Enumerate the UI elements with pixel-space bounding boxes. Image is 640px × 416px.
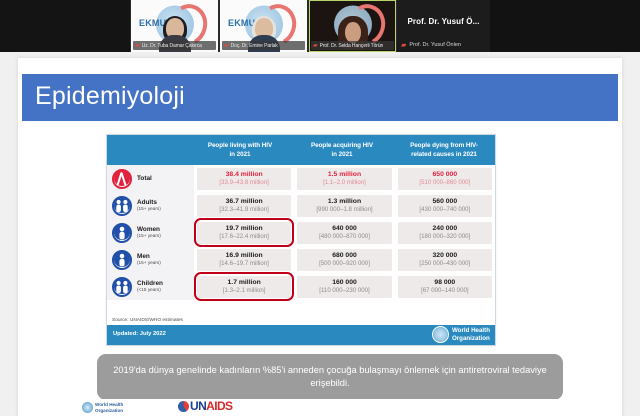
who-hiv-statistics-table: People living with HIV in 2021 People ac…: [106, 134, 496, 346]
cell-value: 160 000: [332, 279, 357, 287]
microphone-muted-icon: ▰: [135, 43, 140, 49]
row-name: Total: [137, 175, 152, 182]
table-cell: 16.9 million[14.6–19.7 million]: [194, 246, 294, 273]
who-logo-line2: Organization: [452, 335, 490, 342]
microphone-muted-icon: ▰: [401, 41, 406, 49]
active-speaker-display-name: Prof. Dr. Yusuf Ö...: [397, 17, 490, 26]
row-name: Men: [137, 253, 161, 260]
slide-caption-text: 2019'da dünya genelinde kadınların %85'i…: [111, 364, 549, 391]
row-label-text: Total: [137, 175, 152, 182]
slide-title: Epidemiyoloji: [35, 82, 185, 111]
row-label-text: Women(15+ years): [137, 226, 161, 238]
table-row: Total38.4 million[33.9–43.8 million]1.5 …: [107, 165, 495, 192]
table-cell-content: 240 000[180 000–320 000]: [398, 222, 492, 244]
video-tile-participant-3[interactable]: ▰ Prof. Dr. Selda Hançerli Törün: [308, 0, 397, 52]
video-strip-left-filler: [0, 0, 130, 52]
cell-value: 38.4 million: [226, 171, 263, 179]
row-label-cell: Women(15+ years): [107, 219, 194, 246]
cell-range: [67 000–140 000]: [421, 287, 468, 294]
cell-range: [250 000–430 000]: [419, 260, 470, 267]
table-cell: 1.5 million[1.1–2.0 million]: [294, 165, 394, 192]
table-cell-content: 38.4 million[33.9–43.8 million]: [197, 168, 291, 190]
who-logo: World Health Organization: [432, 326, 490, 343]
row-label-cell: Adults(15+ years): [107, 192, 194, 219]
slide-footer-logos: World Health Organization UNAIDS: [18, 399, 622, 416]
row-name: Women: [137, 226, 161, 233]
row-age-group: (15+ years): [137, 260, 161, 265]
row-label-cell: Children(<15 years): [107, 273, 194, 300]
cell-value: 1.7 million: [228, 279, 261, 287]
row-age-group: (15+ years): [137, 206, 161, 211]
cell-value: 650 000: [433, 171, 458, 179]
table-cell-content: 650 000[510 000–860 000]: [398, 168, 492, 190]
table-cell-content: 680 000[500 000–920 000]: [297, 249, 391, 271]
table-cell-content: 16.9 million[14.6–19.7 million]: [197, 249, 291, 271]
cell-value: 680 000: [332, 252, 357, 260]
row-age-group: (<15 years): [137, 287, 163, 292]
participant-name-bar-2: ▰ Doç. Dr. Emine Parlak: [222, 41, 305, 50]
cell-range: [510 000–860 000]: [419, 179, 470, 186]
table-cell: 38.4 million[33.9–43.8 million]: [194, 165, 294, 192]
table-row: Men(15+ years)16.9 million[14.6–19.7 mil…: [107, 246, 495, 273]
row-age-group: (15+ years): [137, 233, 161, 238]
table-cell-content: 320 000[250 000–430 000]: [398, 249, 492, 271]
table-cell: 320 000[250 000–430 000]: [395, 246, 495, 273]
cell-range: [1.1–2.0 million]: [323, 179, 366, 186]
who-footer-line2: Organization: [95, 408, 123, 413]
unaids-aids-text: AIDS: [206, 399, 232, 413]
microphone-muted-icon: ▰: [224, 43, 229, 49]
unaids-mark-icon: [178, 401, 189, 412]
table-header-corner: [107, 135, 189, 165]
cell-range: [480 000–870 000]: [319, 233, 370, 240]
cell-range: [110 000–230 000]: [319, 287, 369, 294]
table-cell-content: 36.7 million[32.3–41.9 million]: [197, 195, 291, 217]
table-cell-content: 1.5 million[1.1–2.0 million]: [297, 168, 391, 190]
who-footer-line1: World Health: [95, 402, 123, 407]
table-cell-content: 160 000[110 000–230 000]: [297, 276, 391, 298]
column-header-living-with-hiv: People living with HIV in 2021: [189, 135, 291, 165]
cell-value: 16.9 million: [226, 252, 263, 260]
cell-value: 1.5 million: [328, 171, 361, 179]
table-updated-date: Updated: July 2022: [113, 331, 166, 337]
table-cell: 650 000[510 000–860 000]: [395, 165, 495, 192]
cell-value: 640 000: [332, 225, 357, 233]
participant-name-1: Uz. Dr. Tuba Damar Çakırca: [142, 43, 202, 49]
table-cell: 98 000[67 000–140 000]: [395, 273, 495, 300]
active-speaker-name: Prof. Dr. Yusuf Önlen: [409, 42, 461, 48]
table-cell-content: 560 000[430 000–740 000]: [398, 195, 492, 217]
cell-value: 240 000: [433, 225, 458, 233]
cell-range: [180 000–320 000]: [419, 233, 470, 240]
two-adults-icon: [112, 196, 132, 216]
participant-name-bar-3: ▰ Prof. Dr. Selda Hançerli Törün: [311, 41, 394, 50]
video-tile-participant-1[interactable]: EKMUD ▰ Uz. Dr. Tuba Damar Çakırca: [130, 0, 219, 52]
row-label-text: Children(<15 years): [137, 280, 163, 292]
column-header-dying-from-hiv: People dying from HIV- related causes in…: [393, 135, 495, 165]
row-label-text: Men(15+ years): [137, 253, 161, 265]
table-cell-content: 1.7 million[1.3–2.1 million]: [197, 276, 291, 298]
table-source-note: Source: UNAIDS/WHO estimates: [112, 318, 183, 323]
table-cell-content: 640 000[480 000–870 000]: [297, 222, 391, 244]
table-cell-content: 19.7 million[17.6–22.4 million]: [197, 222, 291, 244]
row-label-cell: Total: [107, 165, 194, 192]
table-cell: 36.7 million[32.3–41.9 million]: [194, 192, 294, 219]
who-logo-line1: World Health: [452, 327, 490, 334]
active-speaker-name-bar: ▰ Prof. Dr. Yusuf Önlen: [401, 40, 461, 49]
red-ribbon-icon: [112, 169, 132, 189]
unaids-logo-text: UNAIDS: [190, 400, 232, 412]
row-label-cell: Men(15+ years): [107, 246, 194, 273]
video-participant-strip: EKMUD ▰ Uz. Dr. Tuba Damar Çakırca EKMUD…: [0, 0, 640, 52]
row-label-text: Adults(15+ years): [137, 199, 161, 211]
cell-range: [500 000–920 000]: [319, 260, 370, 267]
microphone-muted-icon: ▰: [313, 43, 318, 49]
table-cell: 680 000[500 000–920 000]: [294, 246, 394, 273]
row-name: Children: [137, 280, 163, 287]
video-strip-right-filler: [490, 0, 640, 52]
who-emblem-icon: [432, 326, 449, 343]
cell-value: 1.3 million: [328, 198, 361, 206]
cell-value: 320 000: [433, 252, 458, 260]
participant-name-2: Doç. Dr. Emine Parlak: [231, 43, 278, 49]
who-footer-logo-text: World Health Organization: [95, 402, 123, 412]
table-cell-content: 98 000[67 000–140 000]: [398, 276, 492, 298]
table-cell: 160 000[110 000–230 000]: [294, 273, 394, 300]
cell-value: 560 000: [433, 198, 458, 206]
table-cell: 560 000[430 000–740 000]: [395, 192, 495, 219]
cell-value: 98 000: [434, 279, 455, 287]
table-footer-bar: Updated: July 2022 World Health Organiza…: [107, 325, 495, 345]
table-body: Total38.4 million[33.9–43.8 million]1.5 …: [107, 165, 495, 300]
cell-value: 36.7 million: [226, 198, 263, 206]
two-children-icon: [112, 277, 132, 297]
cell-range: [14.6–19.7 million]: [219, 260, 268, 267]
cell-range: [430 000–740 000]: [419, 206, 470, 213]
table-row: Children(<15 years)1.7 million[1.3–2.1 m…: [107, 273, 495, 300]
cell-range: [32.3–41.9 million]: [219, 206, 268, 213]
participant-name-3: Prof. Dr. Selda Hançerli Törün: [320, 43, 384, 49]
unaids-footer-logo: UNAIDS: [178, 400, 232, 412]
table-cell: 640 000[480 000–870 000]: [294, 219, 394, 246]
table-cell: 240 000[180 000–320 000]: [395, 219, 495, 246]
woman-icon: [112, 223, 132, 243]
column-header-acquiring-hiv: People acquiring HIV in 2021: [291, 135, 393, 165]
who-emblem-icon: [82, 402, 93, 413]
table-header-row: People living with HIV in 2021 People ac…: [107, 135, 495, 165]
cell-range: [33.9–43.8 million]: [219, 179, 268, 186]
table-cell: 1.3 million[990 000–1.8 million]: [294, 192, 394, 219]
table-cell-content: 1.3 million[990 000–1.8 million]: [297, 195, 391, 217]
video-tile-active-speaker[interactable]: Prof. Dr. Yusuf Ö... ▰ Prof. Dr. Yusuf Ö…: [397, 0, 490, 52]
participant-name-bar-1: ▰ Uz. Dr. Tuba Damar Çakırca: [133, 41, 216, 50]
table-row: Adults(15+ years)36.7 million[32.3–41.9 …: [107, 192, 495, 219]
cell-range: [990 000–1.8 million]: [316, 206, 372, 213]
table-cell-highlighted: 19.7 million[17.6–22.4 million]: [194, 219, 294, 246]
who-footer-logo: World Health Organization: [82, 402, 123, 413]
table-cell-highlighted: 1.7 million[1.3–2.1 million]: [194, 273, 294, 300]
slide-caption-box: 2019'da dünya genelinde kadınların %85'i…: [97, 354, 563, 400]
who-logo-text: World Health Organization: [452, 327, 490, 341]
unaids-un-text: UN: [190, 399, 206, 413]
row-name: Adults: [137, 199, 161, 206]
cell-range: [1.3–2.1 million]: [223, 287, 266, 294]
man-icon: [112, 250, 132, 270]
video-tile-participant-2[interactable]: EKMUD ▰ Doç. Dr. Emine Parlak: [219, 0, 308, 52]
face-shape: [345, 22, 361, 43]
presentation-slide: Epidemiyoloji People living with HIV in …: [18, 58, 622, 399]
cell-range: [17.6–22.4 million]: [219, 233, 268, 240]
cell-value: 19.7 million: [226, 225, 263, 233]
table-row: Women(15+ years)19.7 million[17.6–22.4 m…: [107, 219, 495, 246]
